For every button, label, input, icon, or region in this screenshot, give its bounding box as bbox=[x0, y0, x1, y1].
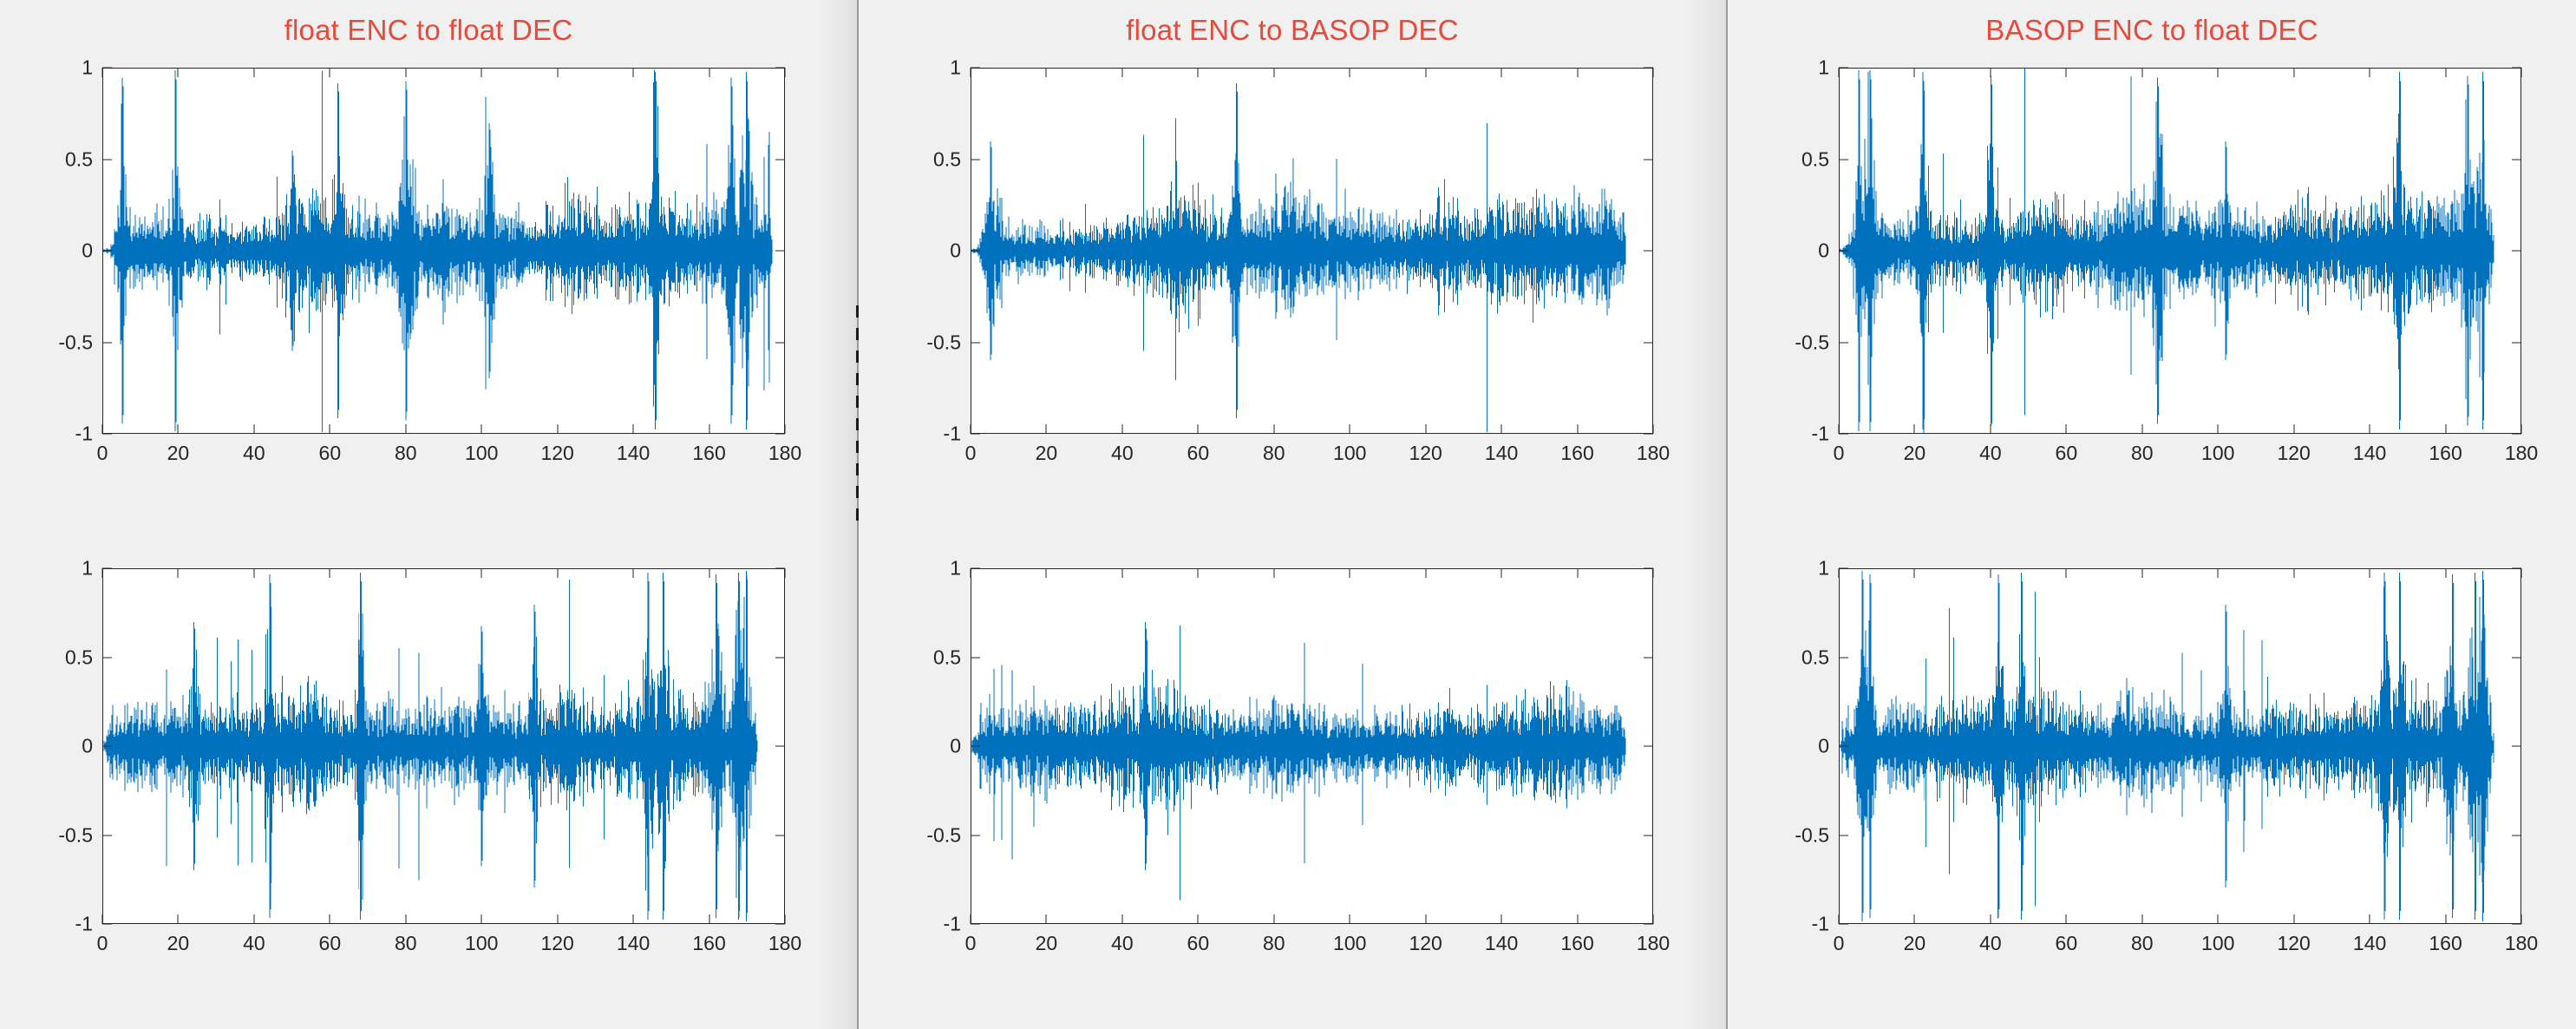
x-axis-tick bbox=[1273, 424, 1274, 434]
y-axis-tick-right bbox=[2512, 835, 2521, 836]
x-axis-tick-label: 0 bbox=[97, 442, 108, 465]
x-axis-tick bbox=[2445, 914, 2446, 924]
y-axis-tick bbox=[102, 68, 112, 69]
waveform-trace bbox=[103, 569, 784, 923]
y-axis-tick bbox=[102, 251, 112, 252]
x-axis-tick-top bbox=[785, 68, 786, 77]
y-axis-tick bbox=[1839, 657, 1848, 658]
y-axis-tick bbox=[971, 924, 980, 925]
y-axis-tick-right bbox=[2512, 657, 2521, 658]
x-axis-tick-label: 20 bbox=[1904, 932, 1926, 955]
x-axis-tick-label: 180 bbox=[2505, 442, 2538, 465]
y-axis-tick-right bbox=[775, 342, 785, 343]
x-axis-tick-label: 20 bbox=[167, 442, 190, 465]
x-axis-tick-top bbox=[1501, 68, 1502, 77]
x-axis-tick-label: 0 bbox=[965, 442, 977, 465]
x-axis-tick bbox=[1198, 914, 1199, 924]
x-axis-tick bbox=[178, 914, 179, 924]
x-axis-tick bbox=[330, 914, 330, 924]
y-axis-tick-right bbox=[775, 251, 785, 252]
y-axis-tick-right bbox=[2512, 434, 2521, 435]
x-axis-tick-top bbox=[633, 68, 634, 77]
y-axis-tick bbox=[971, 568, 980, 569]
x-axis-tick-label: 100 bbox=[1333, 932, 1366, 955]
y-axis-tick-right bbox=[1644, 342, 1653, 343]
x-axis-tick-top bbox=[2066, 68, 2067, 77]
x-axis-tick-top bbox=[2370, 68, 2370, 77]
x-axis-tick-label: 120 bbox=[540, 442, 573, 465]
y-axis-tick-right bbox=[775, 835, 785, 836]
x-axis-tick bbox=[330, 424, 330, 434]
x-axis-tick-label: 160 bbox=[1560, 932, 1593, 955]
x-axis-tick-label: 160 bbox=[692, 442, 725, 465]
y-axis-tick bbox=[971, 342, 980, 343]
x-axis-tick-label: 60 bbox=[1187, 442, 1210, 465]
x-axis-tick-label: 0 bbox=[965, 932, 977, 955]
x-axis-tick bbox=[2445, 424, 2446, 434]
x-axis-tick-label: 140 bbox=[2353, 932, 2386, 955]
x-axis-tick-top bbox=[2521, 568, 2522, 578]
y-axis-tick bbox=[971, 835, 980, 836]
plot-area bbox=[102, 68, 785, 434]
x-axis-tick-label: 0 bbox=[97, 932, 108, 955]
y-axis-tick-right bbox=[1644, 835, 1653, 836]
y-axis-tick-label: -1 bbox=[944, 913, 961, 936]
y-axis-tick-label: 0.5 bbox=[1801, 646, 1829, 669]
y-axis-tick bbox=[1839, 835, 1848, 836]
y-axis-tick-right bbox=[1644, 568, 1653, 569]
x-axis-tick-top bbox=[2293, 68, 2294, 77]
x-axis-tick bbox=[1577, 424, 1578, 434]
x-axis-tick-top bbox=[253, 68, 254, 77]
x-axis-tick-top bbox=[557, 68, 558, 77]
x-axis-tick-label: 100 bbox=[2201, 442, 2234, 465]
x-axis-tick-label: 160 bbox=[1560, 442, 1593, 465]
x-axis-tick-label: 40 bbox=[243, 442, 265, 465]
x-axis-tick-top bbox=[102, 568, 103, 578]
x-axis-tick bbox=[2218, 424, 2219, 434]
x-axis-tick bbox=[405, 424, 406, 434]
x-axis-tick bbox=[1273, 914, 1274, 924]
y-axis-tick bbox=[1839, 568, 1848, 569]
x-axis-tick-top bbox=[405, 568, 406, 578]
x-axis-tick-label: 80 bbox=[2131, 442, 2154, 465]
x-axis-tick-label: 100 bbox=[2201, 932, 2234, 955]
y-axis-tick-right bbox=[1644, 657, 1653, 658]
x-axis-tick-top bbox=[405, 68, 406, 77]
x-axis-tick-top bbox=[2218, 68, 2219, 77]
x-axis-tick bbox=[709, 914, 709, 924]
x-axis-tick bbox=[1990, 424, 1991, 434]
x-axis-tick-label: 80 bbox=[395, 932, 417, 955]
panel-float-enc-basop-dec: float ENC to BASOP DEC 10.50-0.5-1020406… bbox=[859, 0, 1726, 1029]
x-axis-tick-label: 0 bbox=[1834, 932, 1845, 955]
x-axis-tick-label: 80 bbox=[1263, 442, 1285, 465]
y-axis-tick-label: -0.5 bbox=[58, 823, 93, 847]
y-axis-tick-right bbox=[775, 924, 785, 925]
y-axis-tick bbox=[1839, 434, 1848, 435]
x-axis-tick-top bbox=[1653, 68, 1654, 77]
y-axis-tick bbox=[971, 159, 980, 160]
x-axis-tick bbox=[1046, 424, 1047, 434]
x-axis-tick-label: 140 bbox=[1485, 442, 1518, 465]
x-axis-tick bbox=[178, 424, 179, 434]
x-axis-tick-label: 20 bbox=[1036, 442, 1058, 465]
x-axis-tick-label: 140 bbox=[617, 932, 650, 955]
y-axis-tick-label: -1 bbox=[1812, 913, 1829, 936]
x-axis-tick bbox=[1425, 914, 1426, 924]
axes-bottom[interactable]: 10.50-0.5-1020406080100120140160180 bbox=[1839, 568, 2521, 924]
x-axis-tick-top bbox=[633, 568, 634, 578]
waveform-trace bbox=[103, 69, 784, 433]
x-axis-tick bbox=[1839, 424, 1840, 434]
y-axis-tick-label: 0 bbox=[82, 735, 93, 758]
y-axis-tick bbox=[971, 746, 980, 747]
plot-area bbox=[971, 68, 1653, 434]
x-axis-tick bbox=[1121, 914, 1122, 924]
y-axis-tick-right bbox=[2512, 568, 2521, 569]
x-axis-tick bbox=[2141, 914, 2142, 924]
axes-top[interactable]: 10.50-0.5-1020406080100120140160180 bbox=[102, 68, 785, 434]
axes-top[interactable]: 10.50-0.5-1020406080100120140160180 bbox=[971, 68, 1653, 434]
x-axis-tick-label: 100 bbox=[465, 442, 498, 465]
y-axis-tick-label: -1 bbox=[75, 913, 93, 936]
y-axis-tick bbox=[971, 434, 980, 435]
x-axis-tick bbox=[633, 424, 634, 434]
x-axis-tick-label: 120 bbox=[2277, 442, 2310, 465]
y-axis-tick-right bbox=[2512, 251, 2521, 252]
x-axis-tick bbox=[971, 914, 971, 924]
x-axis-tick bbox=[1350, 424, 1350, 434]
x-axis-tick-top bbox=[1425, 68, 1426, 77]
y-axis-tick-label: -1 bbox=[944, 423, 961, 446]
x-axis-tick bbox=[2521, 424, 2522, 434]
x-axis-tick-top bbox=[1350, 68, 1350, 77]
x-axis-tick-top bbox=[2218, 568, 2219, 578]
y-axis-tick-right bbox=[775, 68, 785, 69]
x-axis-tick-label: 60 bbox=[319, 932, 342, 955]
x-axis-tick-top bbox=[1198, 568, 1199, 578]
y-axis-tick-label: 1 bbox=[82, 557, 93, 580]
x-axis-tick-top bbox=[1577, 68, 1578, 77]
x-axis-tick-top bbox=[1273, 68, 1274, 77]
x-axis-tick bbox=[405, 914, 406, 924]
x-axis-tick bbox=[557, 914, 558, 924]
y-axis-tick-label: -0.5 bbox=[926, 823, 961, 847]
y-axis-tick bbox=[102, 657, 112, 658]
panel-title: float ENC to BASOP DEC bbox=[859, 14, 1726, 47]
x-axis-tick bbox=[1501, 914, 1502, 924]
x-axis-tick bbox=[253, 914, 254, 924]
x-axis-tick-label: 40 bbox=[1979, 932, 2002, 955]
y-axis-tick bbox=[102, 342, 112, 343]
y-axis-tick-label: 1 bbox=[82, 56, 93, 80]
x-axis-tick-top bbox=[2141, 68, 2142, 77]
x-axis-tick-top bbox=[481, 68, 482, 77]
x-axis-tick-top bbox=[1990, 68, 1991, 77]
y-axis-tick bbox=[102, 434, 112, 435]
y-axis-tick-label: 0.5 bbox=[933, 646, 961, 669]
y-axis-tick bbox=[971, 657, 980, 658]
x-axis-tick-top bbox=[2141, 568, 2142, 578]
y-axis-tick bbox=[971, 251, 980, 252]
y-axis-tick-label: 0.5 bbox=[1801, 147, 1829, 171]
panel-float-enc-float-dec: float ENC to float DEC 10.50-0.5-1020406… bbox=[0, 0, 857, 1029]
panel-basop-enc-float-dec: BASOP ENC to float DEC 10.50-0.5-1020406… bbox=[1728, 0, 2576, 1029]
y-axis-tick-label: -1 bbox=[1812, 423, 1829, 446]
x-axis-tick-label: 80 bbox=[2131, 932, 2154, 955]
x-axis-tick-top bbox=[1046, 68, 1047, 77]
y-axis-tick bbox=[1839, 68, 1848, 69]
x-axis-tick-top bbox=[330, 68, 330, 77]
x-axis-tick-top bbox=[2370, 568, 2370, 578]
x-axis-tick-top bbox=[1990, 568, 1991, 578]
x-axis-tick-label: 20 bbox=[167, 932, 190, 955]
y-axis-tick-label: 1 bbox=[950, 56, 961, 80]
y-axis-tick-label: 0 bbox=[950, 239, 961, 263]
x-axis-tick-top bbox=[1839, 68, 1840, 77]
x-axis-tick bbox=[253, 424, 254, 434]
y-axis-tick-right bbox=[2512, 924, 2521, 925]
y-axis-tick-label: 0 bbox=[950, 735, 961, 758]
x-axis-tick-top bbox=[481, 568, 482, 578]
axes-bottom[interactable]: 10.50-0.5-1020406080100120140160180 bbox=[971, 568, 1653, 924]
x-axis-tick bbox=[2370, 914, 2370, 924]
x-axis-tick bbox=[1198, 424, 1199, 434]
x-axis-tick bbox=[2066, 424, 2067, 434]
y-axis-tick bbox=[1839, 924, 1848, 925]
x-axis-tick bbox=[2218, 914, 2219, 924]
y-axis-tick-right bbox=[775, 568, 785, 569]
x-axis-tick-top bbox=[1121, 68, 1122, 77]
x-axis-tick-top bbox=[1577, 568, 1578, 578]
x-axis-tick bbox=[557, 424, 558, 434]
x-axis-tick-top bbox=[330, 568, 330, 578]
x-axis-tick bbox=[1501, 424, 1502, 434]
waveform-trace bbox=[971, 69, 1652, 433]
x-axis-tick bbox=[1350, 914, 1350, 924]
x-axis-tick-label: 120 bbox=[540, 932, 573, 955]
x-axis-tick bbox=[2293, 914, 2294, 924]
plot-area bbox=[971, 568, 1653, 924]
x-axis-tick-label: 40 bbox=[1111, 442, 1134, 465]
y-axis-tick-right bbox=[2512, 68, 2521, 69]
x-axis-tick-label: 180 bbox=[1637, 932, 1670, 955]
y-axis-tick bbox=[102, 835, 112, 836]
x-axis-tick-label: 160 bbox=[2429, 932, 2462, 955]
y-axis-tick-label: 0 bbox=[82, 239, 93, 263]
x-axis-tick-label: 20 bbox=[1036, 932, 1058, 955]
x-axis-tick bbox=[1839, 914, 1840, 924]
x-axis-tick-label: 120 bbox=[1409, 442, 1442, 465]
x-axis-tick-top bbox=[1350, 568, 1350, 578]
axes-bottom[interactable]: 10.50-0.5-1020406080100120140160180 bbox=[102, 568, 785, 924]
y-axis-tick-right bbox=[1644, 434, 1653, 435]
y-axis-tick-right bbox=[1644, 251, 1653, 252]
panel-title: BASOP ENC to float DEC bbox=[1728, 14, 2576, 47]
x-axis-tick bbox=[1121, 424, 1122, 434]
panel-title: float ENC to float DEC bbox=[0, 14, 857, 47]
y-axis-tick-right bbox=[775, 746, 785, 747]
x-axis-tick-top bbox=[1425, 568, 1426, 578]
y-axis-tick bbox=[1839, 746, 1848, 747]
x-axis-tick bbox=[1653, 424, 1654, 434]
x-axis-tick-top bbox=[2066, 568, 2067, 578]
y-axis-tick-label: 0 bbox=[1818, 735, 1829, 758]
y-axis-tick-right bbox=[1644, 159, 1653, 160]
x-axis-tick-top bbox=[1653, 568, 1654, 578]
x-axis-tick-label: 180 bbox=[2505, 932, 2538, 955]
x-axis-tick-top bbox=[1121, 568, 1122, 578]
y-axis-tick-label: 1 bbox=[1818, 557, 1829, 580]
x-axis-tick-top bbox=[1501, 568, 1502, 578]
x-axis-tick bbox=[1914, 424, 1915, 434]
y-axis-tick-right bbox=[1644, 746, 1653, 747]
x-axis-tick-top bbox=[178, 568, 179, 578]
x-axis-tick-label: 40 bbox=[1111, 932, 1134, 955]
x-axis-tick-label: 60 bbox=[319, 442, 342, 465]
x-axis-tick-label: 180 bbox=[768, 932, 801, 955]
y-axis-tick-label: 0.5 bbox=[933, 147, 961, 171]
x-axis-tick bbox=[709, 424, 709, 434]
x-axis-tick-label: 40 bbox=[243, 932, 265, 955]
y-axis-tick-right bbox=[2512, 159, 2521, 160]
y-axis-tick-label: 0 bbox=[1818, 239, 1829, 263]
x-axis-tick-top bbox=[971, 568, 971, 578]
x-axis-tick-label: 60 bbox=[1187, 932, 1210, 955]
x-axis-tick-top bbox=[102, 68, 103, 77]
x-axis-tick-top bbox=[1046, 568, 1047, 578]
x-axis-tick-label: 60 bbox=[2056, 932, 2078, 955]
x-axis-tick bbox=[971, 424, 971, 434]
x-axis-tick bbox=[1653, 914, 1654, 924]
y-axis-tick-label: 0.5 bbox=[65, 147, 93, 171]
x-axis-tick-label: 80 bbox=[395, 442, 417, 465]
x-axis-tick bbox=[481, 914, 482, 924]
x-axis-tick bbox=[2370, 424, 2370, 434]
x-axis-tick-label: 100 bbox=[1333, 442, 1366, 465]
x-axis-tick bbox=[2141, 424, 2142, 434]
x-axis-tick bbox=[1577, 914, 1578, 924]
y-axis-tick-label: -0.5 bbox=[926, 331, 961, 354]
y-axis-tick bbox=[102, 924, 112, 925]
y-axis-tick-right bbox=[775, 657, 785, 658]
x-axis-tick-label: 140 bbox=[2353, 442, 2386, 465]
plot-area bbox=[1839, 68, 2521, 434]
y-axis-tick-label: -0.5 bbox=[1795, 823, 1829, 847]
x-axis-tick bbox=[1990, 914, 1991, 924]
x-axis-tick-top bbox=[785, 568, 786, 578]
waveform-trace bbox=[1840, 69, 2520, 433]
x-axis-tick-top bbox=[253, 568, 254, 578]
x-axis-tick-label: 160 bbox=[692, 932, 725, 955]
x-axis-tick-top bbox=[1914, 568, 1915, 578]
x-axis-tick bbox=[2293, 424, 2294, 434]
y-axis-tick bbox=[102, 568, 112, 569]
x-axis-tick-top bbox=[1914, 68, 1915, 77]
plot-area bbox=[1839, 568, 2521, 924]
y-axis-tick-right bbox=[2512, 342, 2521, 343]
y-axis-tick bbox=[102, 746, 112, 747]
y-axis-tick bbox=[1839, 159, 1848, 160]
y-axis-tick-right bbox=[1644, 924, 1653, 925]
x-axis-tick bbox=[481, 424, 482, 434]
x-axis-tick-top bbox=[709, 68, 709, 77]
x-axis-tick-top bbox=[709, 568, 709, 578]
x-axis-tick-top bbox=[1273, 568, 1274, 578]
x-axis-tick-top bbox=[2293, 568, 2294, 578]
waveform-trace bbox=[971, 569, 1652, 923]
x-axis-tick-top bbox=[2445, 568, 2446, 578]
x-axis-tick-top bbox=[1839, 568, 1840, 578]
x-axis-tick-label: 40 bbox=[1979, 442, 2002, 465]
y-axis-tick-label: -1 bbox=[75, 423, 93, 446]
y-axis-tick bbox=[102, 159, 112, 160]
x-axis-tick-label: 120 bbox=[1409, 932, 1442, 955]
x-axis-tick-label: 140 bbox=[617, 442, 650, 465]
figure-canvas: float ENC to float DEC 10.50-0.5-1020406… bbox=[0, 0, 2576, 1029]
x-axis-tick-label: 120 bbox=[2277, 932, 2310, 955]
x-axis-tick bbox=[102, 914, 103, 924]
x-axis-tick bbox=[633, 914, 634, 924]
y-axis-tick-right bbox=[2512, 746, 2521, 747]
waveform-trace bbox=[1840, 569, 2520, 923]
x-axis-tick bbox=[785, 914, 786, 924]
x-axis-tick bbox=[2521, 914, 2522, 924]
x-axis-tick bbox=[785, 424, 786, 434]
y-axis-tick-right bbox=[775, 159, 785, 160]
x-axis-tick-label: 60 bbox=[2056, 442, 2078, 465]
x-axis-tick-label: 80 bbox=[1263, 932, 1285, 955]
x-axis-tick-top bbox=[1198, 68, 1199, 77]
plot-area bbox=[102, 568, 785, 924]
y-axis-tick-label: -0.5 bbox=[1795, 331, 1829, 354]
y-axis-tick-right bbox=[775, 434, 785, 435]
y-axis-tick bbox=[1839, 251, 1848, 252]
x-axis-tick-label: 180 bbox=[1637, 442, 1670, 465]
y-axis-tick-right bbox=[1644, 68, 1653, 69]
x-axis-tick bbox=[1046, 914, 1047, 924]
y-axis-tick-label: 1 bbox=[950, 557, 961, 580]
x-axis-tick bbox=[1425, 424, 1426, 434]
x-axis-tick bbox=[2066, 914, 2067, 924]
x-axis-tick-top bbox=[2521, 68, 2522, 77]
x-axis-tick-top bbox=[2445, 68, 2446, 77]
x-axis-tick bbox=[1914, 914, 1915, 924]
y-axis-tick bbox=[1839, 342, 1848, 343]
y-axis-tick-label: 1 bbox=[1818, 56, 1829, 80]
x-axis-tick-label: 160 bbox=[2429, 442, 2462, 465]
x-axis-tick-top bbox=[557, 568, 558, 578]
axes-top[interactable]: 10.50-0.5-1020406080100120140160180 bbox=[1839, 68, 2521, 434]
x-axis-tick-top bbox=[971, 68, 971, 77]
x-axis-tick-label: 140 bbox=[1485, 932, 1518, 955]
y-axis-tick-label: -0.5 bbox=[58, 331, 93, 354]
x-axis-tick-label: 0 bbox=[1834, 442, 1845, 465]
x-axis-tick-label: 180 bbox=[768, 442, 801, 465]
y-axis-tick bbox=[971, 68, 980, 69]
x-axis-tick bbox=[102, 424, 103, 434]
x-axis-tick-label: 100 bbox=[465, 932, 498, 955]
y-axis-tick-label: 0.5 bbox=[65, 646, 93, 669]
x-axis-tick-top bbox=[178, 68, 179, 77]
x-axis-tick-label: 20 bbox=[1904, 442, 1926, 465]
